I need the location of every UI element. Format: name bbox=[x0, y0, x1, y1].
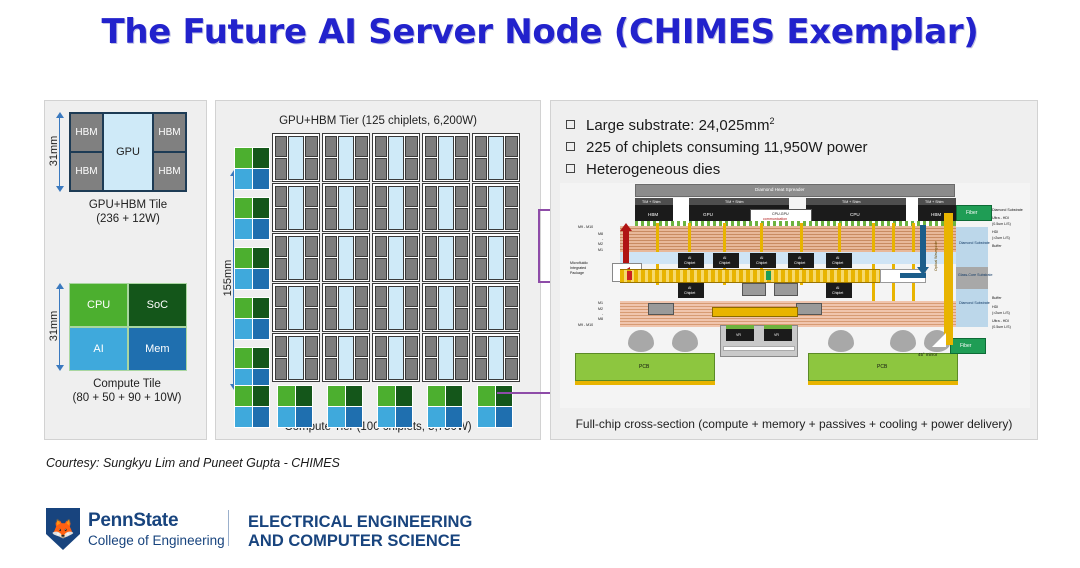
pcb-right-label: PCB bbox=[877, 365, 887, 370]
hbm-block bbox=[405, 186, 417, 207]
hbm-block: HBM bbox=[71, 114, 102, 151]
hbm-block bbox=[405, 136, 417, 157]
optical-riser bbox=[944, 213, 953, 345]
solder-ball bbox=[628, 330, 654, 352]
hbm-block bbox=[275, 136, 287, 157]
bullet-superscript: 2 bbox=[769, 116, 774, 126]
metal-label-m1-bottom: M1 bbox=[598, 301, 603, 306]
compute-quadrant-cpu bbox=[235, 248, 252, 268]
hbm-column-left bbox=[275, 136, 287, 180]
bullet-item-substrate: Large substrate: 24,025mm2 bbox=[566, 110, 1036, 137]
compute-quadrant-cpu bbox=[478, 386, 495, 406]
gpu-block bbox=[438, 336, 453, 380]
gpu-hbm-tile bbox=[422, 233, 470, 282]
gpu-hbm-tile bbox=[272, 233, 320, 282]
gpu-die-label: GPU bbox=[703, 213, 713, 218]
gpu-block bbox=[438, 136, 453, 180]
gpu-block bbox=[438, 286, 453, 330]
hbm-block bbox=[405, 286, 417, 307]
hbm-block bbox=[505, 308, 517, 329]
hbm-column-right bbox=[455, 286, 467, 330]
bullet-checkbox-icon bbox=[566, 164, 575, 173]
hbm-block bbox=[505, 258, 517, 279]
nittany-lion-icon: 🦊 bbox=[51, 520, 75, 539]
compute-quadrant-soc bbox=[253, 148, 270, 168]
hbm-block bbox=[375, 236, 387, 257]
mirror-triangle bbox=[932, 333, 946, 347]
hbm-column-left bbox=[325, 286, 337, 330]
compute-tile bbox=[234, 147, 270, 190]
compute-tile-caption: Compute Tile (80 + 50 + 90 + 10W) bbox=[46, 377, 208, 405]
metal-label-m9m10-bottom: M9 - M10 bbox=[578, 323, 593, 328]
hbm-column-left bbox=[475, 186, 487, 230]
ai-chiplet-label: Chiplet bbox=[719, 261, 730, 266]
solder-ball bbox=[672, 330, 698, 352]
hbm-block bbox=[405, 258, 417, 279]
hbm-block bbox=[325, 258, 337, 279]
core-stack-label-1: Glass-Core Substrate bbox=[958, 273, 993, 278]
gpu-tile-dimension-label: 31mm bbox=[48, 127, 60, 175]
hbm-block bbox=[275, 236, 287, 257]
ai-chiplet-label: Chiplet bbox=[756, 261, 767, 266]
hbm-die-left-label: HBM bbox=[648, 213, 658, 218]
hbm-column-left bbox=[375, 236, 387, 280]
pcb-left-base bbox=[575, 381, 715, 385]
compute-quadrant-cpu bbox=[235, 198, 252, 218]
hbm-block bbox=[375, 308, 387, 329]
gpu-hbm-tile bbox=[472, 183, 520, 232]
hbm-column-right bbox=[355, 336, 367, 380]
diamond-substrate-upper bbox=[956, 227, 988, 267]
metal-label-dash-bottom: - bbox=[602, 312, 603, 317]
waveguide-marker-red bbox=[627, 271, 632, 280]
hbm-block bbox=[305, 286, 317, 307]
hbm-block bbox=[475, 258, 487, 279]
hbm-block bbox=[375, 136, 387, 157]
die-gap-left bbox=[673, 198, 689, 221]
gpu-hbm-tile bbox=[272, 283, 320, 332]
hbm-block bbox=[275, 308, 287, 329]
ai-chiplet-label: Chiplet bbox=[832, 261, 843, 266]
stack-label-hdi-ls: (>2um L/S) bbox=[992, 236, 1010, 241]
diamond-heat-spreader-label: Diamond Heat Spreader bbox=[755, 188, 805, 193]
compute-quadrant-soc bbox=[253, 298, 270, 318]
optical-waveguide-band bbox=[620, 269, 880, 283]
hbm-block bbox=[325, 336, 337, 357]
footer-divider bbox=[228, 510, 229, 546]
hbm-block bbox=[425, 236, 437, 257]
optical-waveguide-label: Optical Waveguide bbox=[934, 241, 939, 271]
hbm-block bbox=[305, 336, 317, 357]
page-title: The Future AI Server Node (CHIMES Exempl… bbox=[0, 12, 1080, 52]
compute-quadrant-ai bbox=[235, 169, 252, 189]
gpu-block bbox=[438, 186, 453, 230]
gpu-tile-caption-line2: (236 + 12W) bbox=[49, 212, 207, 226]
hbm-column-left bbox=[325, 136, 337, 180]
hbm-block bbox=[455, 136, 467, 157]
hbm-column-right: HBM HBM bbox=[154, 114, 185, 190]
metal-label-dash-top: - bbox=[602, 237, 603, 242]
stack-label-hdi: HDI bbox=[992, 230, 998, 235]
cpu-die-label: CPU bbox=[850, 213, 860, 218]
compute-quadrant-ai bbox=[278, 407, 295, 427]
gpu-hbm-tile bbox=[372, 233, 420, 282]
hbm-block bbox=[355, 186, 367, 207]
hbm-block bbox=[475, 158, 487, 179]
metal-label-m1-top: M1 bbox=[598, 248, 603, 253]
gpu-block bbox=[438, 236, 453, 280]
hbm-column-right bbox=[405, 236, 417, 280]
hbm-column-right bbox=[455, 236, 467, 280]
hbm-block bbox=[375, 258, 387, 279]
hbm-column-right bbox=[355, 286, 367, 330]
hbm-block bbox=[375, 158, 387, 179]
hbm-block bbox=[305, 258, 317, 279]
bullet-item-heterogeneous: Heterogeneous dies bbox=[566, 159, 1036, 181]
compute-tile-diagram: CPU SoC AI Mem bbox=[69, 283, 187, 371]
gpu-tile-caption-line1: GPU+HBM Tile bbox=[49, 198, 207, 212]
stack-label-ultra-hdi: Ultra - HDI bbox=[992, 216, 1009, 221]
hbm-column-right bbox=[455, 186, 467, 230]
hbm-column-left bbox=[325, 336, 337, 380]
hbm-column-right bbox=[505, 136, 517, 180]
gpu-block bbox=[388, 336, 403, 380]
hbm-column-right bbox=[305, 286, 317, 330]
compute-quadrant-cpu bbox=[378, 386, 395, 406]
hbm-column-left bbox=[375, 286, 387, 330]
stack-label-hdi-lower: HDI bbox=[992, 305, 998, 310]
hbm-block bbox=[505, 136, 517, 157]
bullet-text: 225 of chiplets consuming 11,950W power bbox=[586, 137, 868, 159]
hbm-block bbox=[275, 286, 287, 307]
gpu-block bbox=[288, 136, 303, 180]
hbm-column-right bbox=[405, 136, 417, 180]
ai-chiplet-label: AI bbox=[760, 256, 763, 261]
gpu-hbm-tile bbox=[272, 183, 320, 232]
hbm-column-left bbox=[425, 186, 437, 230]
compute-quadrant-ai bbox=[235, 407, 252, 427]
hbm-block bbox=[305, 158, 317, 179]
tim-shim-left-label: TIM + Shim bbox=[642, 200, 660, 205]
hbm-block bbox=[505, 336, 517, 357]
compute-quadrant-cpu bbox=[235, 348, 252, 368]
hbm-block bbox=[355, 308, 367, 329]
ai-chiplet-label: Chiplet bbox=[684, 261, 695, 266]
gpu-hbm-tile bbox=[322, 183, 370, 232]
gpu-block bbox=[338, 136, 353, 180]
vr-label: VR bbox=[736, 333, 741, 338]
core-stack-label-2: Diamond Substrate bbox=[959, 301, 990, 306]
hbm-block bbox=[325, 136, 337, 157]
hbm-block bbox=[405, 308, 417, 329]
stack-label-buffer: Buffer bbox=[992, 244, 1002, 249]
hbm-block bbox=[455, 308, 467, 329]
hbm-column-left: HBM HBM bbox=[71, 114, 102, 190]
compute-tile-caption-line2: (80 + 50 + 90 + 10W) bbox=[46, 391, 208, 405]
hbm-block bbox=[475, 358, 487, 379]
compute-quadrant-soc bbox=[253, 198, 270, 218]
hbm-block bbox=[305, 308, 317, 329]
gpu-block bbox=[288, 236, 303, 280]
stack-label-diamond-substrate: Diamond Substrate bbox=[992, 208, 1023, 213]
hbm-block bbox=[455, 286, 467, 307]
hbm-block bbox=[505, 286, 517, 307]
stack-label-buffer-lower: Buffer bbox=[992, 296, 1002, 301]
hbm-block bbox=[275, 336, 287, 357]
cpu-gpu-comm-label-line1: CPU-GPU bbox=[772, 212, 789, 217]
eecs-line1: ELECTRICAL ENGINEERING bbox=[248, 513, 472, 532]
hbm-column-right bbox=[355, 136, 367, 180]
gpu-hbm-tile bbox=[422, 133, 470, 182]
hbm-block bbox=[325, 208, 337, 229]
compute-quadrant-soc bbox=[253, 348, 270, 368]
gpu-hbm-tile bbox=[322, 283, 370, 332]
gpu-hbm-tile bbox=[422, 333, 470, 382]
tim-shim-mid1-label: TIM + Shim bbox=[725, 200, 743, 205]
hbm-block bbox=[375, 186, 387, 207]
compute-quadrant-ai bbox=[235, 219, 252, 239]
bullet-checkbox-icon bbox=[566, 142, 575, 151]
hbm-column-left bbox=[275, 186, 287, 230]
compute-tile bbox=[234, 297, 270, 340]
hbm-column-left bbox=[375, 336, 387, 380]
hbm-block bbox=[375, 358, 387, 379]
metal-label-m8-top: M8 bbox=[598, 232, 603, 237]
gpu-hbm-tile bbox=[472, 333, 520, 382]
gpu-hbm-tile-diagram: HBM HBM GPU HBM HBM bbox=[69, 112, 187, 192]
gpu-block: GPU bbox=[104, 114, 152, 190]
gpu-hbm-tile bbox=[322, 233, 370, 282]
hbm-column-left bbox=[475, 286, 487, 330]
compute-quadrant-ai bbox=[328, 407, 345, 427]
metal-label-m8-bottom: M8 bbox=[598, 317, 603, 322]
hbm-block bbox=[275, 208, 287, 229]
gpu-hbm-tile bbox=[472, 133, 520, 182]
compute-tile bbox=[234, 197, 270, 240]
hbm-column-right bbox=[355, 236, 367, 280]
gpu-hbm-tile bbox=[472, 283, 520, 332]
tim-shim-mid2-label: TIM + Shim bbox=[842, 200, 860, 205]
hbm-column-left bbox=[475, 136, 487, 180]
compute-tile bbox=[427, 385, 463, 428]
hbm-block bbox=[455, 258, 467, 279]
hbm-block: HBM bbox=[154, 114, 185, 151]
gpu-tile-caption: GPU+HBM Tile (236 + 12W) bbox=[49, 198, 207, 226]
compute-quadrant-ai bbox=[478, 407, 495, 427]
bullet-text: Large substrate: 24,025mm bbox=[586, 117, 769, 134]
pennstate-shield-icon: 🦊 bbox=[46, 508, 80, 550]
ai-chiplet-label: Chiplet bbox=[794, 261, 805, 266]
gpu-hbm-tile bbox=[272, 133, 320, 182]
gpu-block bbox=[338, 236, 353, 280]
hbm-block bbox=[325, 358, 337, 379]
ai-chiplet-label: AI bbox=[688, 286, 691, 291]
hbm-block bbox=[355, 286, 367, 307]
hbm-block bbox=[355, 158, 367, 179]
gpu-block bbox=[288, 336, 303, 380]
hbm-block bbox=[475, 236, 487, 257]
compute-quadrant-ai: AI bbox=[70, 328, 127, 370]
hbm-column-right bbox=[305, 186, 317, 230]
gpu-block bbox=[488, 286, 503, 330]
hbm-block bbox=[425, 336, 437, 357]
bullet-item-chiplets: 225 of chiplets consuming 11,950W power bbox=[566, 137, 1036, 159]
pennstate-wordmark: PennState College of Engineering bbox=[88, 510, 225, 548]
hbm-block bbox=[305, 236, 317, 257]
vr-substrate bbox=[723, 346, 795, 351]
compute-quadrant-soc bbox=[253, 386, 270, 406]
tim-shim-right-label: TIM + Shim bbox=[925, 200, 943, 205]
hbm-block bbox=[375, 208, 387, 229]
hbm-block bbox=[475, 208, 487, 229]
gpu-hbm-tile bbox=[372, 333, 420, 382]
hbm-block bbox=[455, 158, 467, 179]
eecs-line2: AND COMPUTER SCIENCE bbox=[248, 532, 472, 551]
gpu-block bbox=[488, 186, 503, 230]
gpu-block bbox=[388, 186, 403, 230]
stack-label-hdi-ls-lower: (>2um L/S) bbox=[992, 311, 1010, 316]
bullet-checkbox-icon bbox=[566, 120, 575, 129]
hbm-column-right bbox=[505, 286, 517, 330]
bullet-list: Large substrate: 24,025mm2 225 of chiple… bbox=[566, 110, 1036, 181]
signal-arrow-horizontal bbox=[900, 273, 926, 278]
passive-capacitor bbox=[774, 283, 798, 296]
footer: 🦊 PennState College of Engineering ELECT… bbox=[0, 500, 1080, 568]
courtesy-line: Courtesy: Sungkyu Lim and Puneet Gupta -… bbox=[46, 456, 340, 470]
passive-inductor bbox=[648, 303, 674, 315]
compute-quadrant-cpu bbox=[278, 386, 295, 406]
hbm-block bbox=[405, 236, 417, 257]
gpu-block bbox=[388, 236, 403, 280]
compute-quadrant-cpu bbox=[428, 386, 445, 406]
gpu-block bbox=[288, 186, 303, 230]
hbm-block bbox=[425, 186, 437, 207]
hbm-block bbox=[405, 336, 417, 357]
hbm-block bbox=[355, 208, 367, 229]
gpu-hbm-tile bbox=[372, 283, 420, 332]
microfluidic-label-line3: Package bbox=[570, 271, 584, 276]
hbm-block bbox=[505, 208, 517, 229]
hbm-block bbox=[325, 158, 337, 179]
tier-dimension-label: 155mm bbox=[222, 254, 234, 302]
compute-quadrant-cpu: CPU bbox=[70, 284, 127, 326]
hbm-column-left bbox=[425, 136, 437, 180]
glass-core-substrate bbox=[956, 267, 988, 289]
hbm-block bbox=[425, 358, 437, 379]
hbm-column-left bbox=[375, 186, 387, 230]
hbm-column-right bbox=[305, 236, 317, 280]
compute-tile bbox=[277, 385, 313, 428]
gpu-hbm-tile bbox=[322, 333, 370, 382]
compute-tile bbox=[234, 385, 270, 428]
coolant-up-arrow-head bbox=[620, 223, 632, 231]
gpu-block bbox=[338, 286, 353, 330]
signal-down-arrow-shaft bbox=[920, 225, 926, 269]
cross-section-caption: Full-chip cross-section (compute + memor… bbox=[550, 417, 1038, 431]
hbm-block bbox=[405, 158, 417, 179]
hbm-block bbox=[305, 208, 317, 229]
ai-chiplet-label: AI bbox=[688, 256, 691, 261]
connector-line-bottom-horizontal bbox=[497, 392, 552, 394]
compute-tile bbox=[377, 385, 413, 428]
compute-quadrant-cpu bbox=[235, 148, 252, 168]
hbm-block bbox=[475, 336, 487, 357]
vr-label: VR bbox=[774, 333, 779, 338]
hbm-block bbox=[425, 286, 437, 307]
hbm-block bbox=[505, 158, 517, 179]
compute-quadrant-mem bbox=[446, 407, 463, 427]
compute-quadrant-mem bbox=[396, 407, 413, 427]
eecs-wordmark: ELECTRICAL ENGINEERING AND COMPUTER SCIE… bbox=[248, 513, 472, 551]
gpu-hbm-tile bbox=[272, 333, 320, 382]
compute-quadrant-soc bbox=[496, 386, 513, 406]
compute-quadrant-soc bbox=[346, 386, 363, 406]
hbm-block bbox=[375, 336, 387, 357]
hbm-column-right bbox=[505, 236, 517, 280]
hbm-block bbox=[275, 186, 287, 207]
gpu-hbm-tile bbox=[422, 183, 470, 232]
hbm-block bbox=[505, 236, 517, 257]
hbm-column-left bbox=[425, 336, 437, 380]
hbm-column-left bbox=[375, 136, 387, 180]
die-gap-right bbox=[906, 198, 918, 221]
metal-stack-top bbox=[620, 226, 956, 252]
compute-quadrant-ai bbox=[235, 319, 252, 339]
gpu-block bbox=[488, 336, 503, 380]
gpu-hbm-tile bbox=[372, 133, 420, 182]
compute-quadrant-mem: Mem bbox=[129, 328, 186, 370]
hbm-column-left bbox=[425, 286, 437, 330]
compute-quadrant-cpu bbox=[328, 386, 345, 406]
gpu-hbm-tile bbox=[372, 183, 420, 232]
compute-tile-dimension-label: 31mm bbox=[48, 302, 60, 350]
hbm-block bbox=[275, 158, 287, 179]
hbm-column-left bbox=[275, 336, 287, 380]
hbm-block bbox=[325, 308, 337, 329]
hbm-column-left bbox=[475, 336, 487, 380]
passive-capacitor bbox=[742, 283, 766, 296]
fiber-bottom-label: Fiber bbox=[960, 344, 971, 349]
hbm-block bbox=[425, 258, 437, 279]
gpu-block bbox=[488, 236, 503, 280]
hbm-block bbox=[425, 136, 437, 157]
compute-quadrant-mem bbox=[253, 269, 270, 289]
cross-section-diagram: Diamond Heat Spreader TIM + Shim TIM + S… bbox=[560, 183, 1030, 408]
passive-inductor bbox=[796, 303, 822, 315]
compute-quadrant-mem bbox=[496, 407, 513, 427]
ai-chiplet-label: AI bbox=[836, 286, 839, 291]
compute-tile bbox=[327, 385, 363, 428]
hbm-block bbox=[475, 136, 487, 157]
core-stack-label-0: Diamond Substrate bbox=[959, 241, 990, 246]
hbm-block bbox=[475, 186, 487, 207]
hbm-block bbox=[355, 336, 367, 357]
hbm-block bbox=[425, 308, 437, 329]
hbm-block bbox=[355, 258, 367, 279]
gpu-block bbox=[288, 286, 303, 330]
hbm-block bbox=[325, 186, 337, 207]
hbm-column-left bbox=[275, 286, 287, 330]
compute-quadrant-ai bbox=[235, 269, 252, 289]
gpu-block bbox=[388, 286, 403, 330]
power-plane-box bbox=[712, 307, 798, 317]
hbm-block bbox=[425, 208, 437, 229]
pennstate-name: PennState bbox=[88, 510, 225, 532]
stack-label-ultra-hdi-lower: Ultra - HDI bbox=[992, 319, 1009, 324]
gpu-hbm-tile bbox=[422, 283, 470, 332]
hbm-block bbox=[455, 336, 467, 357]
hbm-block bbox=[325, 286, 337, 307]
